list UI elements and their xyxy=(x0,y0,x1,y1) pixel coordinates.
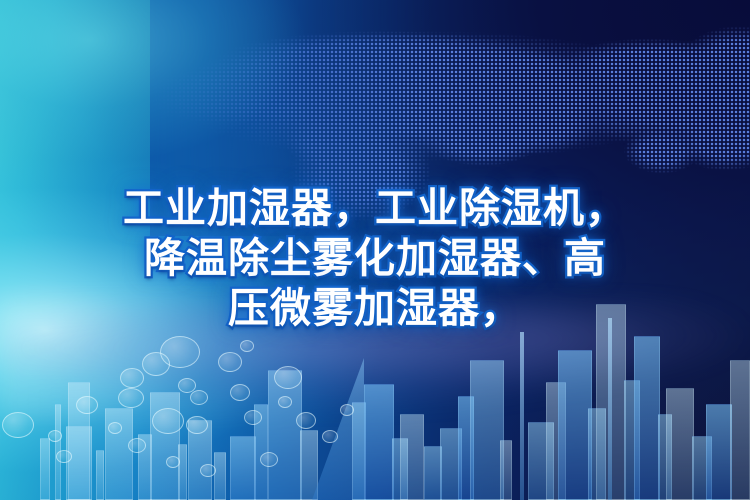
promo-banner: 工业加湿器，工业除湿机， 降温除尘雾化加湿器、高 压微雾加湿器， xyxy=(0,0,750,500)
headline-line-1: 工业加湿器，工业除湿机， xyxy=(0,183,750,233)
headline-line-3: 压微雾加湿器， xyxy=(0,283,750,333)
headline-line-2: 降温除尘雾化加湿器、高 xyxy=(0,233,750,283)
headline-text: 工业加湿器，工业除湿机， 降温除尘雾化加湿器、高 压微雾加湿器， xyxy=(0,183,750,333)
